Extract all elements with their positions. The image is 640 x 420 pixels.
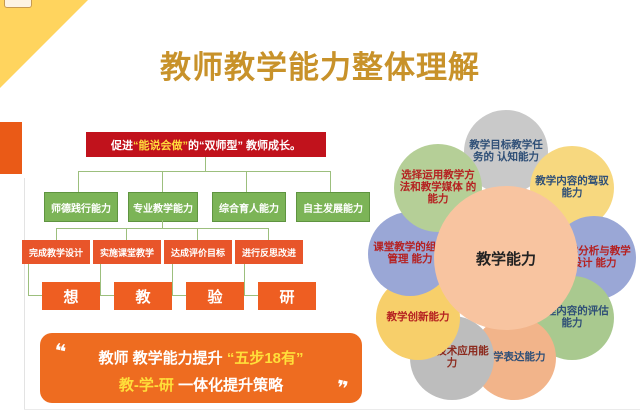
green-node-3[interactable]: 自主发展能力 bbox=[296, 192, 370, 222]
connector-drop-1a bbox=[78, 171, 79, 192]
tree-top-banner: 促进 “能说会做” 的 “双师型” 教师成长。 bbox=[86, 132, 326, 157]
slide-canvas: 教师教学能力整体理解 促进 “能说会做” 的 “双师型” 教师成长。 师德践行能… bbox=[0, 0, 640, 420]
venn-center-label: 教学能力 bbox=[476, 248, 536, 269]
connector-drop-3b bbox=[100, 264, 101, 296]
connector-bus-1 bbox=[78, 171, 330, 172]
connector-drop-3d bbox=[244, 264, 245, 296]
connector-drop-3a bbox=[28, 264, 29, 296]
char-node-1[interactable]: 教 bbox=[114, 282, 172, 310]
orange-node-0[interactable]: 完成教学设计 bbox=[22, 240, 90, 264]
connector-arm-3a bbox=[28, 295, 42, 296]
strategy-line1-text: 教师 教学能力提升 bbox=[98, 350, 226, 367]
connector-bus-2 bbox=[56, 228, 268, 229]
char-node-0[interactable]: 想 bbox=[42, 282, 100, 310]
connector-drop-1b bbox=[162, 171, 163, 192]
connector-arm-3b bbox=[100, 295, 114, 296]
tree-banner-highlight-1: “能说会做” bbox=[133, 137, 188, 153]
connector-arm-3c bbox=[172, 295, 186, 296]
char-node-3[interactable]: 研 bbox=[258, 282, 316, 310]
page-title: 教师教学能力整体理解 bbox=[0, 42, 640, 87]
vertical-divider bbox=[24, 178, 25, 410]
strategy-banner-line-1: 教师 教学能力提升 “五步18有” bbox=[40, 347, 362, 368]
bottom-divider bbox=[24, 409, 640, 410]
char-node-2[interactable]: 验 bbox=[186, 282, 244, 310]
connector-trunk bbox=[205, 157, 206, 171]
connector-drop-1d bbox=[330, 171, 331, 192]
connector-drop-3c bbox=[172, 264, 173, 296]
strategy-banner[interactable]: ❝ ❞ 教师 教学能力提升 “五步18有” 教-学-研 一体化提升策略 bbox=[40, 333, 362, 403]
orange-node-3[interactable]: 进行反思改进 bbox=[235, 240, 303, 264]
tree-banner-text-2: 的 bbox=[188, 137, 199, 153]
venn-center-hub[interactable]: 教学能力 bbox=[434, 186, 578, 330]
strategy-line2-text: 一体化提升策略 bbox=[174, 377, 283, 394]
green-node-0[interactable]: 师德践行能力 bbox=[44, 192, 118, 222]
corner-badge-icon bbox=[4, 0, 32, 8]
tree-banner-text-1: 促进 bbox=[111, 137, 133, 153]
connector-trunk-2 bbox=[162, 220, 163, 228]
connector-drop-2a bbox=[56, 228, 57, 240]
green-node-1[interactable]: 专业教学能力 bbox=[128, 192, 198, 222]
connector-drop-2d bbox=[268, 228, 269, 240]
connector-drop-1c bbox=[246, 171, 247, 192]
capability-tree-diagram: 促进 “能说会做” 的 “双师型” 教师成长。 师德践行能力 专业教学能力 综合… bbox=[36, 132, 366, 312]
left-orange-tab bbox=[0, 122, 22, 174]
green-node-2[interactable]: 综合育人能力 bbox=[212, 192, 286, 222]
strategy-line1-highlight: “五步18有” bbox=[227, 350, 304, 367]
tree-banner-text-3: “双师型” 教师成长。 bbox=[199, 137, 301, 153]
connector-drop-2c bbox=[197, 228, 198, 240]
orange-node-2[interactable]: 达成评价目标 bbox=[164, 240, 232, 264]
strategy-line2-highlight: 教-学-研 bbox=[119, 377, 174, 394]
orange-node-1[interactable]: 实施课堂教学 bbox=[93, 240, 161, 264]
teaching-capability-venn: 教学目标教学任务的 认知能力 教学内容的驾驭能力 教学分析与教学设计 能力 课程… bbox=[372, 108, 640, 408]
strategy-banner-line-2: 教-学-研 一体化提升策略 bbox=[40, 374, 362, 395]
connector-arm-3d bbox=[244, 295, 258, 296]
connector-drop-2b bbox=[126, 228, 127, 240]
